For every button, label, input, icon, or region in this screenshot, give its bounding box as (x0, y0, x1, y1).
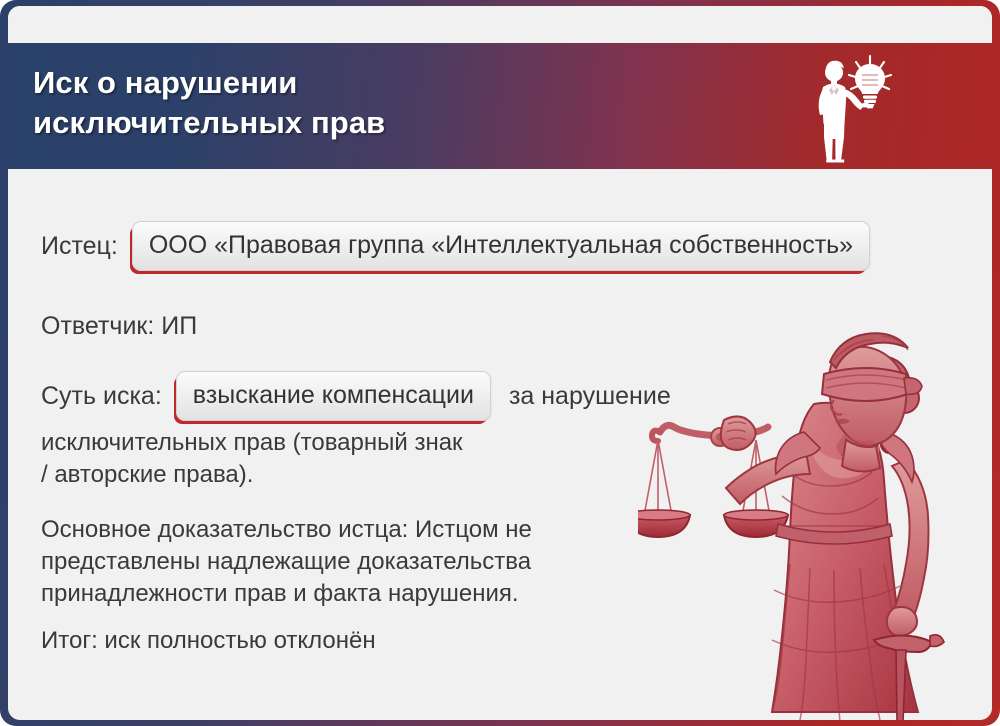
outcome-text: Итог: иск полностью отклонён (41, 625, 641, 657)
page-title: Иск о нарушении исключительных прав (33, 63, 673, 143)
claim-continuation: исключительных прав (товарный знак / авт… (41, 427, 641, 491)
claim-row: Суть иска: взыскание компенсации за нару… (41, 371, 671, 421)
card-body: Истец: ООО «Правовая группа «Интеллектуа… (8, 169, 992, 720)
presentation-card: Иск о нарушении исключительных прав (0, 0, 1000, 726)
card-inner-page: Иск о нарушении исключительных прав (8, 6, 992, 720)
top-strip (8, 6, 992, 43)
claim-label: Суть иска: (41, 379, 162, 413)
evidence-text: Основное доказательство истца: Истцом не… (41, 514, 651, 610)
lady-justice-illustration (638, 320, 992, 720)
plaintiff-value-highlight: ООО «Правовая группа «Интеллектуальная с… (132, 221, 870, 271)
plaintiff-row: Истец: ООО «Правовая группа «Интеллектуа… (41, 221, 870, 271)
defendant-row: Ответчик: ИП (41, 309, 197, 343)
claim-highlight: взыскание компенсации (176, 371, 491, 421)
plaintiff-label: Истец: (41, 229, 118, 263)
header-banner: Иск о нарушении исключительных прав (8, 43, 992, 169)
businessman-with-lightbulb-icon (803, 51, 913, 166)
defendant-text: Ответчик: ИП (41, 309, 197, 343)
claim-tail: за нарушение (509, 379, 671, 413)
